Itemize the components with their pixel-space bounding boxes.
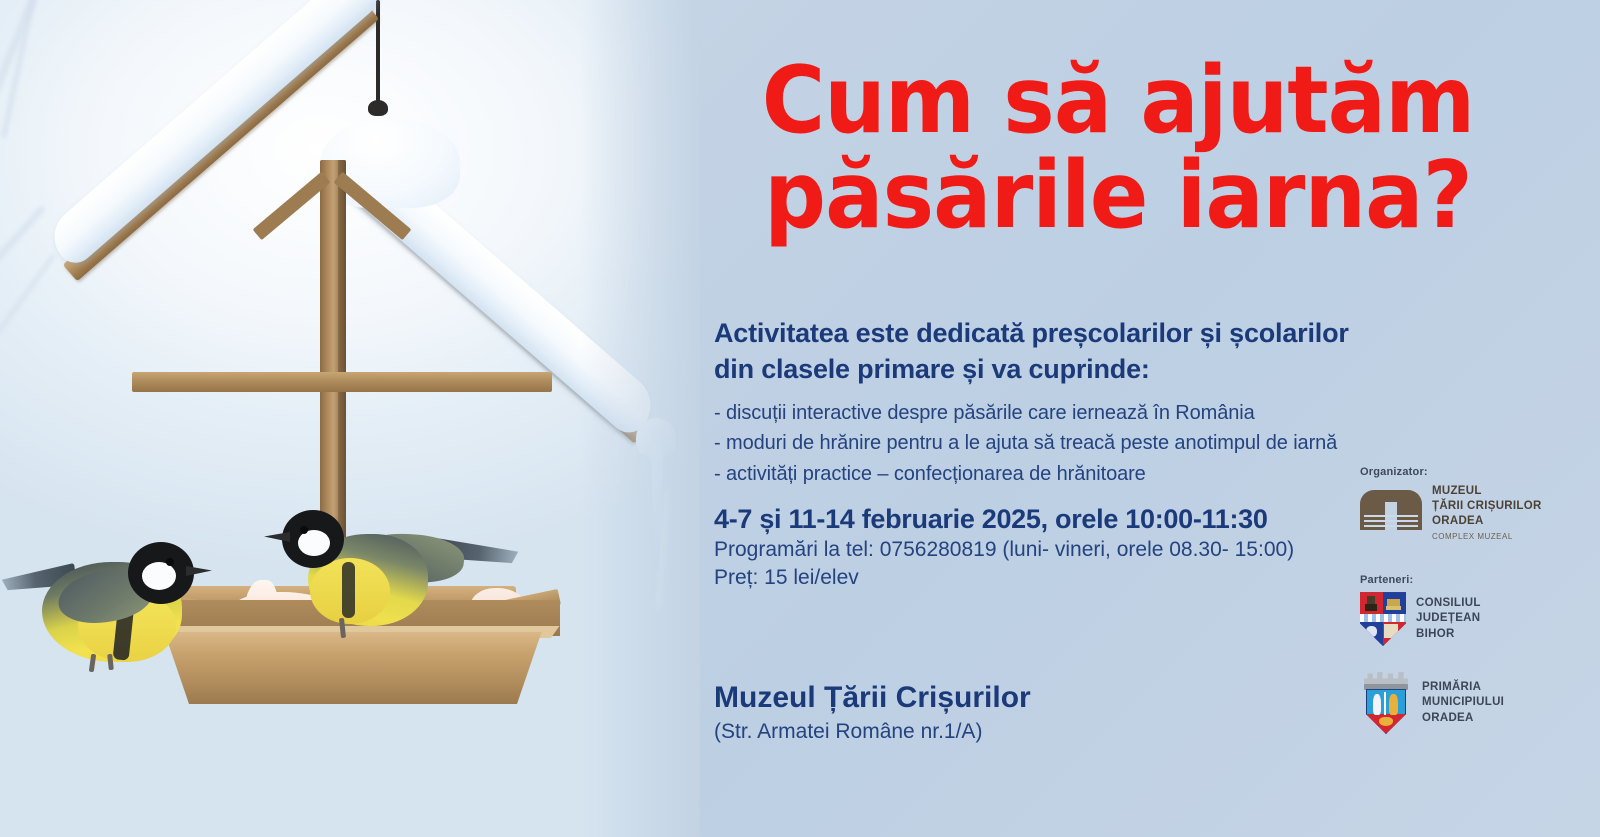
poster-title: Cum să ajutăm păsările iarna? xyxy=(737,56,1500,241)
poster-canvas: Cum să ajutăm păsările iarna? Activitate… xyxy=(0,0,1600,837)
oradea-line-1: PRIMĂRIA xyxy=(1422,680,1504,695)
organizer-name-line-3: ORADEA xyxy=(1432,514,1542,529)
lead-paragraph: Activitatea este dedicată preșcolarilor … xyxy=(714,316,1504,387)
poster-content: Cum să ajutăm păsările iarna? Activitate… xyxy=(700,0,1600,837)
oradea-logo-text: PRIMĂRIA MUNICIPIULUI ORADEA xyxy=(1422,680,1504,726)
icicle xyxy=(650,430,664,570)
bihor-coat-of-arms-icon xyxy=(1360,592,1406,646)
oradea-coat-of-arms-icon xyxy=(1360,672,1412,734)
bullet-item: - moduri de hrănire pentru a le ajuta să… xyxy=(714,428,1504,458)
organizer-subtitle: COMPLEX MUZEAL xyxy=(1432,532,1542,543)
blurred-twig xyxy=(656,490,670,610)
museum-m-icon xyxy=(1360,490,1422,536)
lead-line-1: Activitatea este dedicată preșcolarilor … xyxy=(714,316,1504,352)
title-line-1: Cum să ajutăm xyxy=(737,56,1500,145)
oradea-line-2: MUNICIPIULUI xyxy=(1422,695,1504,710)
bird-cheek-patch xyxy=(142,562,176,590)
venue-block: Muzeul Țării Crișurilor (Str. Armatei Ro… xyxy=(714,680,1314,746)
feeder-cross-beam xyxy=(132,372,552,392)
bird-eye xyxy=(300,526,308,534)
venue-address: (Str. Armatei Române nr.1/A) xyxy=(714,718,1314,746)
organizer-logo: MUZEUL ȚĂRII CRIȘURILOR ORADEA COMPLEX M… xyxy=(1360,484,1600,542)
blurred-twig xyxy=(0,0,41,203)
partners-label: Parteneri: xyxy=(1360,574,1600,586)
organizer-logo-text: MUZEUL ȚĂRII CRIȘURILOR ORADEA COMPLEX M… xyxy=(1432,484,1542,542)
bird-leg xyxy=(89,654,96,673)
partner-logo-oradea: PRIMĂRIA MUNICIPIULUI ORADEA xyxy=(1360,672,1600,734)
bullet-item: - discuții interactive despre păsările c… xyxy=(714,398,1504,428)
title-line-2: păsările iarna? xyxy=(737,151,1500,240)
bihor-line-3: BIHOR xyxy=(1416,627,1481,642)
organizer-name-line-1: MUZEUL xyxy=(1432,484,1542,499)
lead-line-2: din clasele primare și va cuprinde: xyxy=(714,352,1504,388)
oradea-line-3: ORADEA xyxy=(1422,711,1504,726)
great-tit-bird-right xyxy=(262,500,502,640)
logo-column: Organizator: MUZEUL ȚĂRII CRIȘURILOR ORA… xyxy=(1360,466,1600,734)
bird-belly-stripe xyxy=(342,562,355,618)
great-tit-bird-left xyxy=(8,528,218,668)
organizer-name-line-2: ȚĂRII CRIȘURILOR xyxy=(1432,499,1542,514)
bird-eye xyxy=(166,558,174,566)
venue-name: Muzeul Țării Crișurilor xyxy=(714,680,1314,716)
bihor-line-1: CONSILIUL xyxy=(1416,596,1481,611)
bird-beak xyxy=(186,566,212,576)
icicle-base xyxy=(636,418,676,458)
organizer-label: Organizator: xyxy=(1360,466,1600,478)
bihor-line-2: JUDEȚEAN xyxy=(1416,611,1481,626)
partner-logo-bihor: CONSILIUL JUDEȚEAN BIHOR xyxy=(1360,592,1600,646)
bird-feeder-photo xyxy=(0,0,700,837)
bihor-logo-text: CONSILIUL JUDEȚEAN BIHOR xyxy=(1416,596,1481,642)
bird-beak xyxy=(264,532,290,542)
